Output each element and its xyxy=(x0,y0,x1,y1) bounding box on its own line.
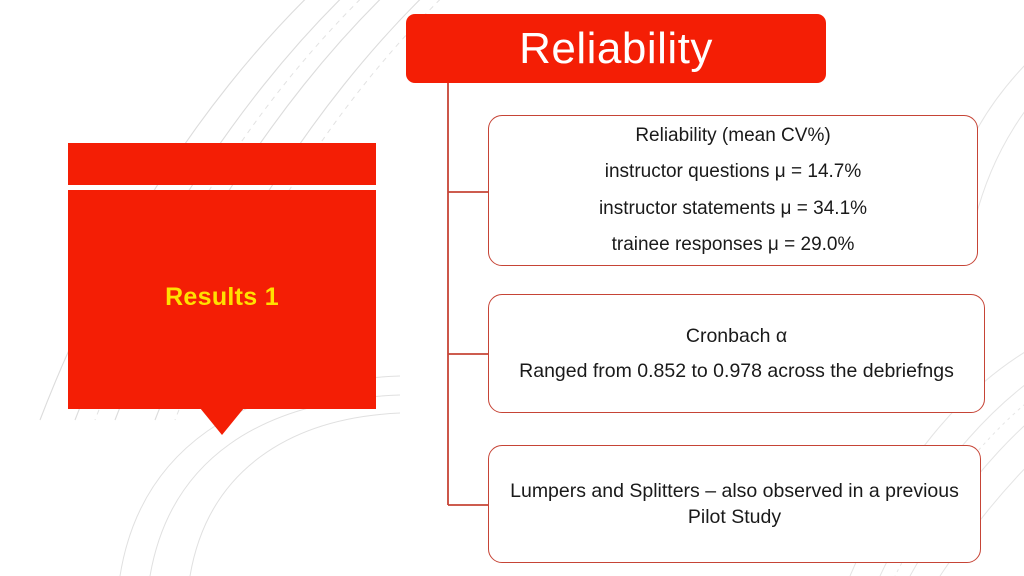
box1-line-3: instructor statements μ = 34.1% xyxy=(505,191,961,227)
content-box-cronbach-alpha: Cronbach α Ranged from 0.852 to 0.978 ac… xyxy=(488,294,985,413)
box1-line-4: trainee responses μ = 29.0% xyxy=(505,227,961,263)
callout-tail xyxy=(200,408,244,435)
content-box-lumpers-splitters: Lumpers and Splitters – also observed in… xyxy=(488,445,981,563)
box1-line-1: Reliability (mean CV%) xyxy=(505,118,961,154)
callout-top-bar xyxy=(68,143,376,185)
content-box-reliability-cv: Reliability (mean CV%) instructor questi… xyxy=(488,115,978,266)
title-banner: Reliability xyxy=(406,14,826,83)
page-title: Reliability xyxy=(519,27,713,71)
results-callout-panel: Results 1 xyxy=(68,143,376,435)
box2-line-1: Cronbach α xyxy=(505,319,968,354)
slide-canvas: Results 1 Reliability Reliability (mean … xyxy=(0,0,1024,576)
box1-line-2: instructor questions μ = 14.7% xyxy=(505,154,961,190)
box2-line-2: Ranged from 0.852 to 0.978 across the de… xyxy=(505,354,968,389)
results-label: Results 1 xyxy=(68,283,376,312)
box3-line-1: Lumpers and Splitters – also observed in… xyxy=(505,478,964,531)
